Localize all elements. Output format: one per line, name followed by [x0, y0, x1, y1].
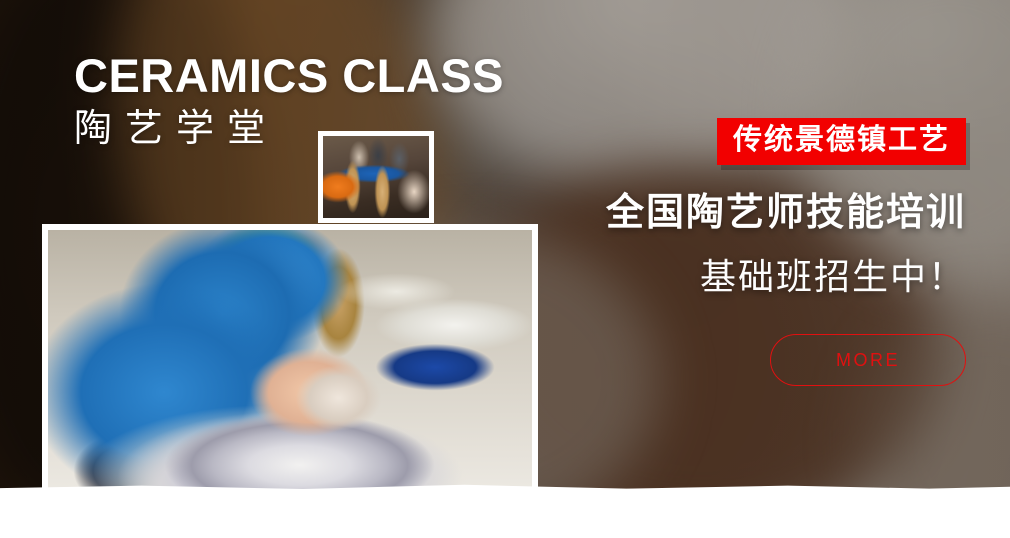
- pottery-tools-image: [323, 136, 429, 218]
- copy-column: 传统景德镇工艺 全国陶艺师技能培训 基础班招生中！ MORE: [546, 0, 966, 386]
- cloud-photo-clip: [323, 136, 429, 218]
- title-block: CERAMICS CLASS 陶艺学堂: [74, 52, 504, 152]
- title-chinese: 陶艺学堂: [74, 108, 504, 152]
- status-badge: 传统景德镇工艺: [717, 118, 966, 165]
- ceramics-class-banner: CERAMICS CLASS 陶艺学堂 传统景德镇工艺 全国陶艺师技能培训 基础…: [0, 0, 1010, 538]
- headline-secondary: 基础班招生中！: [546, 255, 966, 298]
- cloud-photo-clip: [48, 230, 532, 510]
- headline-primary: 全国陶艺师技能培训: [546, 191, 966, 237]
- child-pottery-image: [48, 230, 532, 510]
- bottom-white-band: [0, 490, 1010, 538]
- more-button[interactable]: MORE: [770, 334, 966, 386]
- pottery-wheel-photo: [42, 224, 538, 516]
- title-english: CERAMICS CLASS: [74, 52, 504, 100]
- pottery-tools-photo: [318, 131, 434, 223]
